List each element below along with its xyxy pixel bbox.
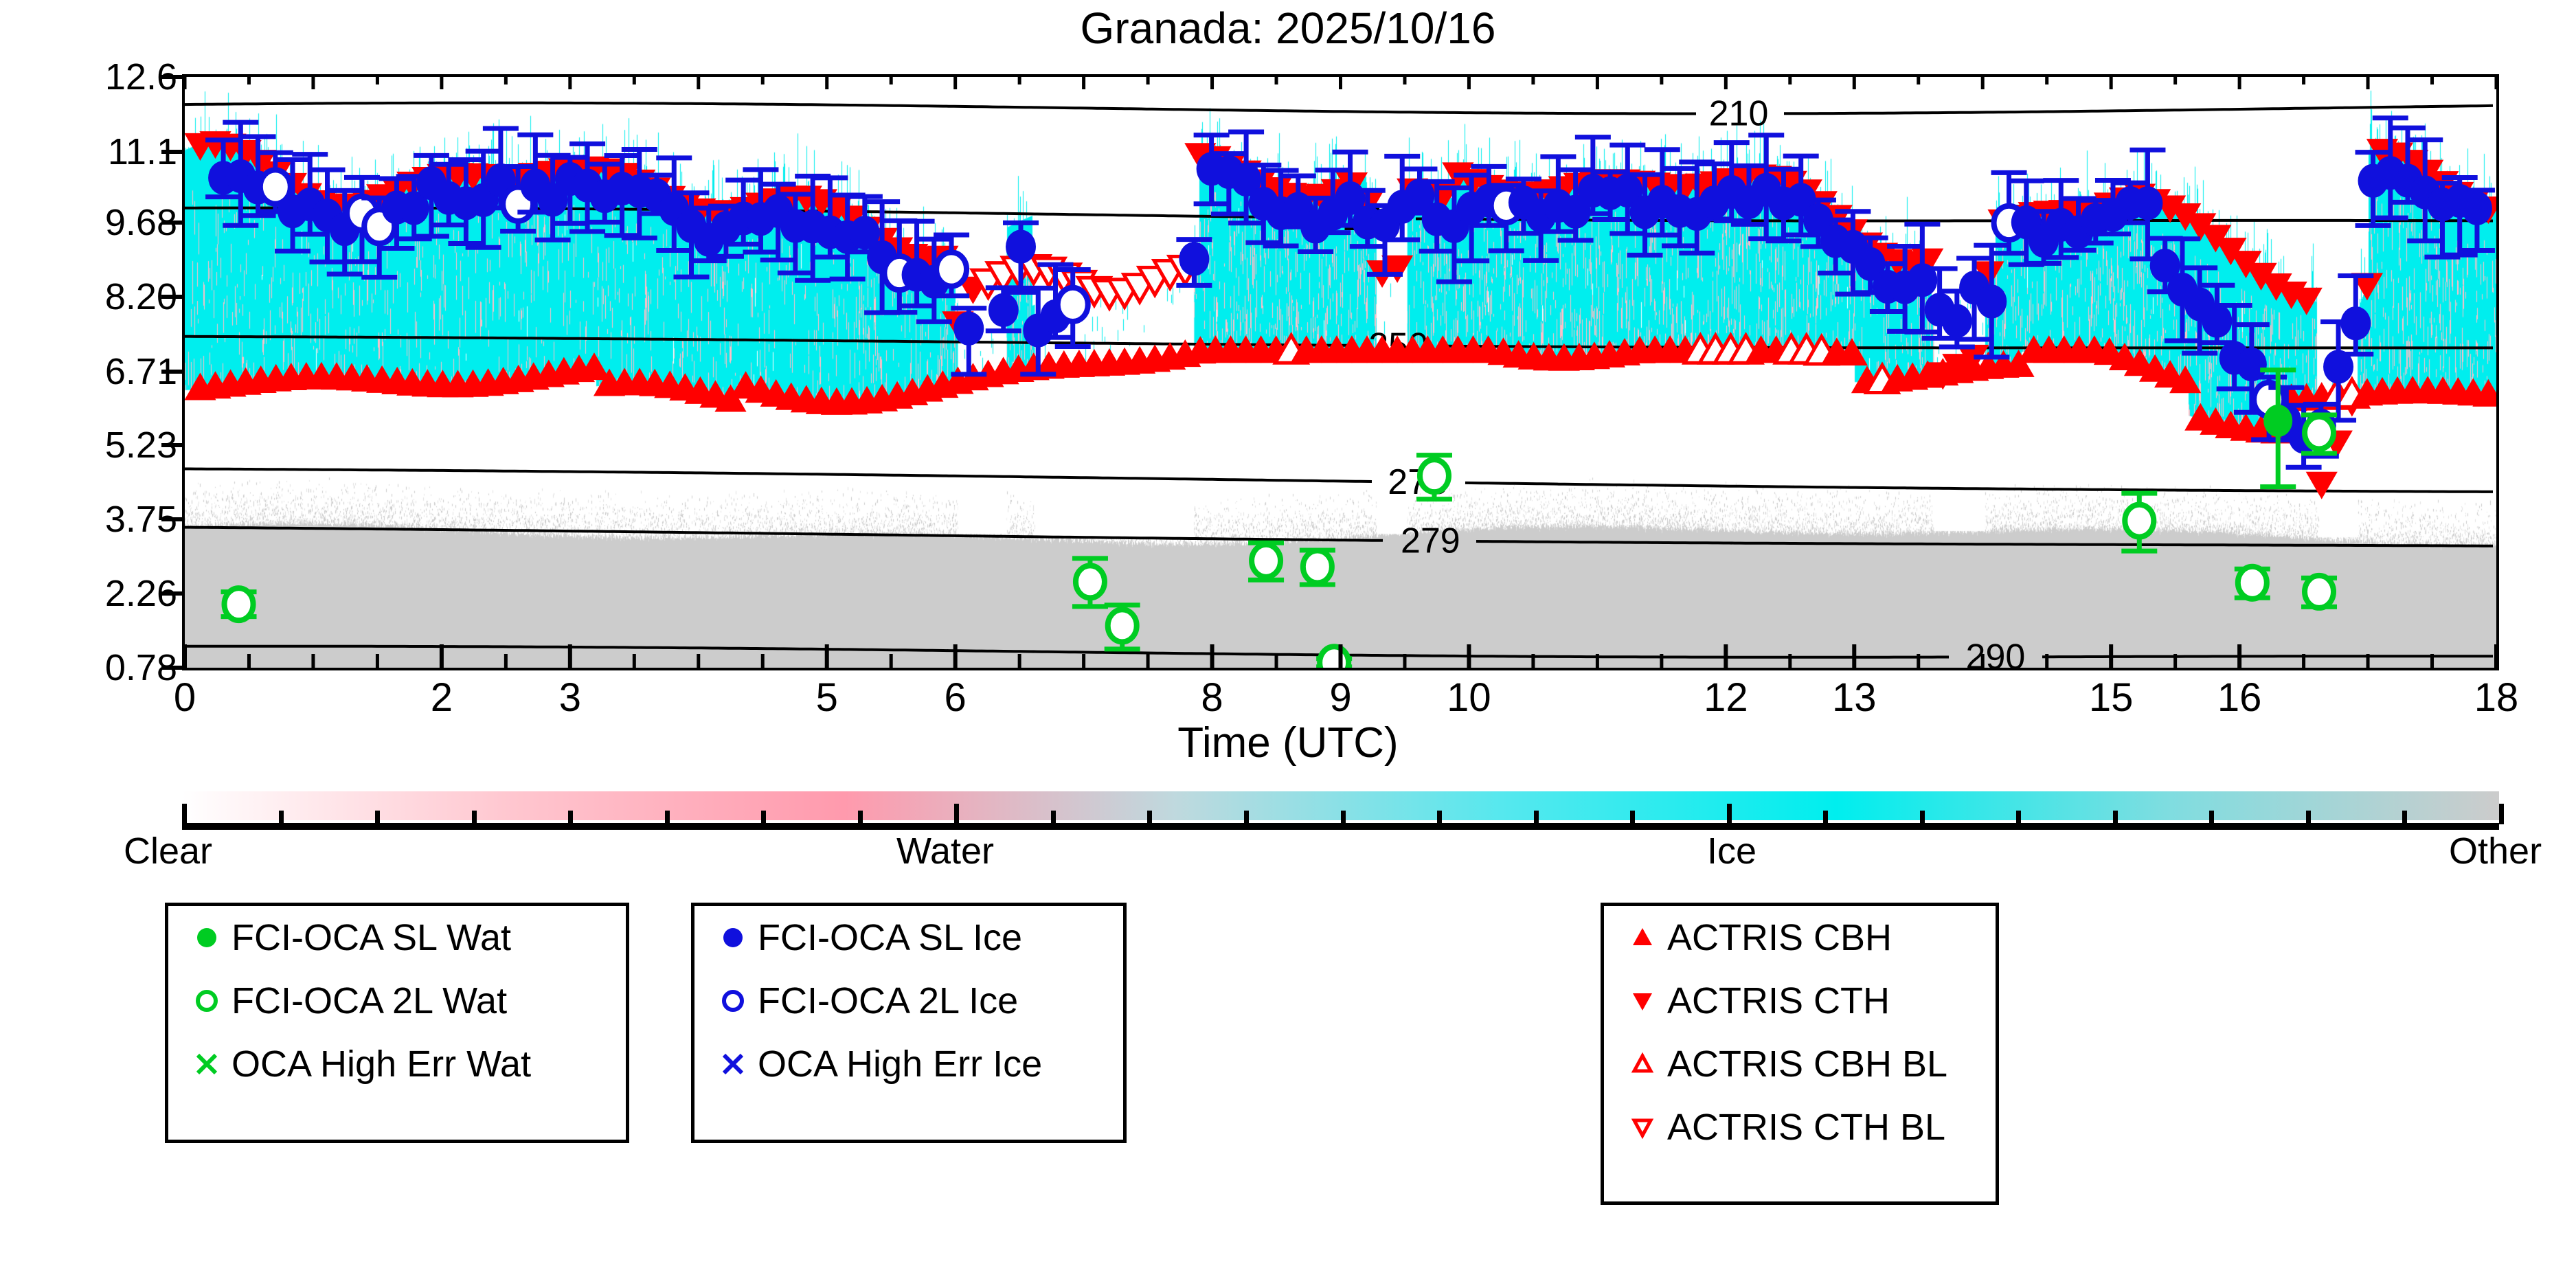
colorbar-label-clear: Clear bbox=[124, 830, 212, 872]
colorbar-tick bbox=[2209, 811, 2214, 824]
data-point-marker bbox=[1300, 550, 1335, 585]
legend-item[interactable]: FCI-OCA SL Ice bbox=[694, 906, 1123, 969]
legend-item[interactable]: FCI-OCA SL Wat bbox=[168, 906, 626, 969]
colorbar-tick bbox=[954, 804, 959, 824]
colorbar-label-ice: Ice bbox=[1707, 830, 1756, 872]
legend-item-label: FCI-OCA SL Ice bbox=[754, 916, 1022, 959]
x-mark-icon bbox=[186, 1050, 227, 1078]
legend-item-label: ACTRIS CBH bbox=[1663, 916, 1892, 959]
legend-item-label: ACTRIS CBH BL bbox=[1663, 1043, 1947, 1085]
data-point-marker bbox=[2129, 150, 2165, 259]
legend-actris: ACTRIS CBHACTRIS CTHACTRIS CBH BLACTRIS … bbox=[1601, 903, 1999, 1205]
colorbar-tick bbox=[1051, 811, 1056, 824]
x-mark-icon bbox=[712, 1050, 754, 1078]
colorbar-tick bbox=[2113, 811, 2118, 824]
legend-item-label: OCA High Err Wat bbox=[227, 1043, 531, 1085]
isotherm-line bbox=[1476, 541, 2493, 546]
x-tick-label: 8 bbox=[1201, 675, 1223, 721]
x-tick-label: 12 bbox=[1704, 675, 1748, 721]
legend-item-label: ACTRIS CTH bbox=[1663, 980, 1890, 1022]
isotherm-line bbox=[185, 469, 1372, 482]
colorbar-tick bbox=[472, 811, 477, 824]
plot-overlay: 210230250273279290 bbox=[185, 77, 2496, 668]
colorbar-tick bbox=[1244, 811, 1249, 824]
open-up-triangle-icon bbox=[1622, 1050, 1663, 1078]
colorbar-tick bbox=[1534, 811, 1539, 824]
colorbar-tick bbox=[568, 811, 573, 824]
x-tick-label: 6 bbox=[945, 675, 967, 721]
legend-water: FCI-OCA SL WatFCI-OCA 2L WatOCA High Err… bbox=[165, 903, 629, 1143]
colorbar-tick bbox=[761, 811, 766, 824]
colorbar-tick bbox=[665, 811, 670, 824]
plot-area: 210230250273279290 bbox=[182, 74, 2499, 670]
data-point-marker bbox=[221, 588, 257, 620]
x-tick-label: 9 bbox=[1329, 675, 1351, 721]
legend-item-label: OCA High Err Ice bbox=[754, 1043, 1042, 1085]
filled-up-triangle-icon bbox=[1622, 924, 1663, 951]
colorbar-tick bbox=[1341, 811, 1346, 824]
legend-item-label: ACTRIS CTH BL bbox=[1663, 1106, 1945, 1149]
data-point-marker bbox=[1072, 558, 1108, 607]
x-tick-label: 2 bbox=[431, 675, 453, 721]
colorbar-tick bbox=[2402, 811, 2407, 824]
y-tick-mark bbox=[161, 75, 185, 79]
y-tick-mark bbox=[161, 666, 185, 670]
isotherm-line bbox=[185, 528, 1383, 541]
isotherm-label: 279 bbox=[1401, 521, 1460, 561]
y-tick-mark bbox=[161, 517, 185, 521]
colorbar-tick bbox=[279, 811, 284, 824]
data-point-marker bbox=[1105, 605, 1140, 649]
colorbar-label-other: Other bbox=[2449, 830, 2542, 872]
data-point-marker bbox=[1316, 646, 1352, 670]
colorbar-tick bbox=[2499, 804, 2504, 824]
open-circle-icon bbox=[712, 987, 754, 1015]
x-tick-label: 0 bbox=[174, 675, 196, 721]
page-title: Granada: 2025/10/16 bbox=[0, 3, 2576, 54]
filled-circle-icon bbox=[186, 924, 227, 951]
legend-item[interactable]: ACTRIS CTH BL bbox=[1604, 1096, 1996, 1159]
x-tick-label: 13 bbox=[1832, 675, 1877, 721]
colorbar-tick bbox=[2306, 811, 2311, 824]
colorbar-label-water: Water bbox=[896, 830, 994, 872]
colorbar-tick bbox=[1147, 811, 1152, 824]
x-tick-label: 5 bbox=[816, 675, 838, 721]
legend-item[interactable]: ACTRIS CBH BL bbox=[1604, 1032, 1996, 1096]
legend-item[interactable]: FCI-OCA 2L Wat bbox=[168, 969, 626, 1032]
y-tick-mark bbox=[161, 221, 185, 225]
colorbar-tick bbox=[1920, 811, 1925, 824]
isotherm-label: 210 bbox=[1709, 93, 1769, 133]
filled-down-triangle-icon bbox=[1622, 987, 1663, 1015]
data-point-marker bbox=[2235, 567, 2270, 599]
data-point-marker bbox=[2121, 493, 2157, 551]
legend-item[interactable]: OCA High Err Wat bbox=[168, 1032, 626, 1096]
filled-circle-icon bbox=[712, 924, 754, 951]
legend-item-label: FCI-OCA 2L Ice bbox=[754, 980, 1018, 1022]
isotherm-label: 290 bbox=[1966, 637, 2026, 670]
isotherm-line bbox=[1465, 483, 2493, 492]
x-axis-label: Time (UTC) bbox=[0, 719, 2576, 767]
filled-down-triangle-icon bbox=[2306, 472, 2338, 499]
colorbar-tick bbox=[1630, 811, 1635, 824]
colorbar-tick bbox=[182, 804, 187, 824]
y-tick-mark bbox=[161, 370, 185, 374]
legend-item-label: FCI-OCA SL Wat bbox=[227, 916, 511, 959]
legend-item[interactable]: ACTRIS CBH bbox=[1604, 906, 1996, 969]
data-point-marker bbox=[2301, 576, 2337, 608]
x-tick-label: 15 bbox=[2089, 675, 2134, 721]
legend-item[interactable]: OCA High Err Ice bbox=[694, 1032, 1123, 1096]
isotherm-line bbox=[185, 337, 1355, 346]
colorbar-tick bbox=[375, 811, 380, 824]
x-tick-label: 16 bbox=[2217, 675, 2262, 721]
legend-ice: FCI-OCA SL IceFCI-OCA 2L IceOCA High Err… bbox=[691, 903, 1127, 1143]
colorbar-tick bbox=[1727, 804, 1732, 824]
legend-item[interactable]: FCI-OCA 2L Ice bbox=[694, 969, 1123, 1032]
colorbar-tick bbox=[1437, 811, 1442, 824]
y-tick-mark bbox=[161, 150, 185, 154]
colorbar-tick bbox=[858, 811, 863, 824]
x-tick-label: 18 bbox=[2474, 675, 2519, 721]
colorbar bbox=[182, 791, 2499, 827]
y-tick-mark bbox=[161, 591, 185, 596]
isotherm-line bbox=[1784, 106, 2493, 114]
x-tick-label: 10 bbox=[1447, 675, 1491, 721]
isotherm-line bbox=[185, 103, 1696, 114]
legend-item-label: FCI-OCA 2L Wat bbox=[227, 980, 507, 1022]
y-tick-mark bbox=[161, 443, 185, 447]
y-tick-mark bbox=[161, 295, 185, 299]
data-point-marker bbox=[1248, 543, 1284, 580]
x-tick-label: 3 bbox=[559, 675, 581, 721]
open-down-triangle-icon bbox=[1622, 1114, 1663, 1141]
legend-item[interactable]: ACTRIS CTH bbox=[1604, 969, 1996, 1032]
colorbar-tick bbox=[2016, 811, 2021, 824]
open-circle-icon bbox=[186, 987, 227, 1015]
isotherm-line bbox=[185, 646, 1949, 657]
colorbar-tick bbox=[1823, 811, 1828, 824]
